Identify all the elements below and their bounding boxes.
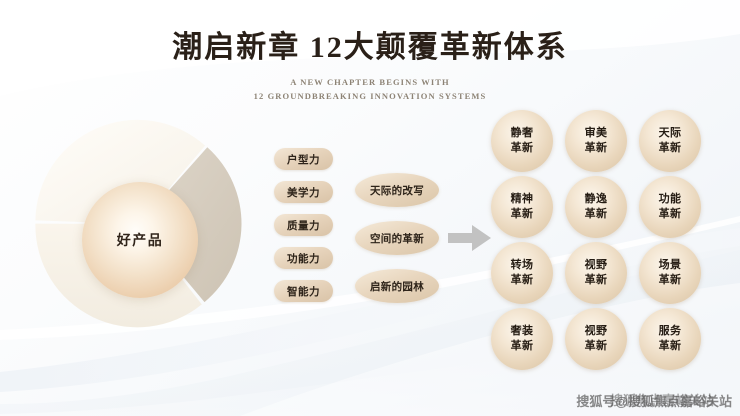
innovation-circle[interactable]: 静奢 革新 [491, 110, 553, 172]
innovation-circle-line1: 静逸 [585, 192, 608, 207]
innovation-circle-line1: 精神 [511, 192, 534, 207]
donut-core-label: 好产品 [117, 230, 164, 250]
innovation-circle-line2: 革新 [659, 339, 682, 354]
capability-pill[interactable]: 功能力 [274, 247, 333, 269]
innovation-circle[interactable]: 转场 革新 [491, 242, 553, 304]
theme-ellipse[interactable]: 启新的园林 [355, 269, 439, 303]
innovation-circle[interactable]: 场景 革新 [639, 242, 701, 304]
capability-pill[interactable]: 质量力 [274, 214, 333, 236]
theme-ellipse[interactable]: 空间的革新 [355, 221, 439, 255]
innovation-circle-line2: 革新 [511, 207, 534, 222]
innovation-circle-line1: 服务 [659, 324, 682, 339]
innovation-circle-line1: 场景 [659, 258, 682, 273]
title-block: 潮启新章 12大颠覆革新体系 A NEW CHAPTER BEGINS WITH… [0, 30, 740, 104]
innovation-circle-line1: 奢装 [511, 324, 534, 339]
innovation-circle[interactable]: 视野 革新 [565, 242, 627, 304]
innovation-circle-line2: 革新 [659, 273, 682, 288]
theme-ellipse-list: 天际的改写 空间的革新 启新的园林 [355, 173, 439, 317]
innovation-circle[interactable]: 服务 革新 [639, 308, 701, 370]
right-arrow-icon [448, 223, 492, 253]
slide-canvas: 潮启新章 12大颠覆革新体系 A NEW CHAPTER BEGINS WITH… [0, 0, 740, 416]
innovation-circle-line2: 革新 [511, 273, 534, 288]
innovation-circle-line2: 革新 [585, 339, 608, 354]
theme-ellipse-label: 天际的改写 [370, 183, 424, 198]
innovation-circle[interactable]: 奢装 革新 [491, 308, 553, 370]
innovation-circle-line1: 天际 [659, 126, 682, 141]
innovation-circle-line2: 革新 [511, 141, 534, 156]
innovation-circle-line2: 革新 [511, 339, 534, 354]
theme-ellipse[interactable]: 天际的改写 [355, 173, 439, 207]
capability-pill-label: 户型力 [287, 152, 320, 167]
capability-pill-label: 美学力 [287, 185, 320, 200]
theme-ellipse-label: 启新的园林 [370, 279, 424, 294]
capability-pill-label: 质量力 [287, 218, 320, 233]
innovation-circle[interactable]: 精神 革新 [491, 176, 553, 238]
innovation-circle[interactable]: 静逸 革新 [565, 176, 627, 238]
capability-pill[interactable]: 户型力 [274, 148, 333, 170]
innovation-circle-line1: 静奢 [511, 126, 534, 141]
innovation-circle-line2: 革新 [585, 141, 608, 156]
innovation-circle-line1: 审美 [585, 126, 608, 141]
innovation-circle[interactable]: 视野 革新 [565, 308, 627, 370]
innovation-circle-line2: 革新 [585, 273, 608, 288]
innovation-circle-line1: 视野 [585, 324, 608, 339]
donut-diagram: 好产品 [33, 118, 245, 330]
capability-pill[interactable]: 智能力 [274, 280, 333, 302]
innovation-circle-line1: 功能 [659, 192, 682, 207]
innovation-circle[interactable]: 天际 革新 [639, 110, 701, 172]
subtitle-line-2: 12 GROUNDBREAKING INNOVATION SYSTEMS [0, 89, 740, 103]
innovation-circle-line2: 革新 [585, 207, 608, 222]
page-title: 潮启新章 12大颠覆革新体系 [0, 30, 740, 66]
innovation-circle-line2: 革新 [659, 207, 682, 222]
innovation-grid: 静奢 革新 审美 革新 天际 革新 精神 革新 静逸 革新 功能 革新 转场 革… [491, 110, 705, 371]
innovation-circle[interactable]: 审美 革新 [565, 110, 627, 172]
capability-pill-list: 户型力 美学力 质量力 功能力 智能力 [274, 148, 334, 313]
donut-core: 好产品 [82, 182, 198, 298]
innovation-circle-line1: 视野 [585, 258, 608, 273]
watermark: 搜狐焦点嘉峪关站 搜狐号@搜狐焦点嘉峪关站 [542, 390, 732, 412]
capability-pill-label: 功能力 [287, 251, 320, 266]
capability-pill-label: 智能力 [287, 284, 320, 299]
innovation-circle[interactable]: 功能 革新 [639, 176, 701, 238]
theme-ellipse-label: 空间的革新 [370, 231, 424, 246]
capability-pill[interactable]: 美学力 [274, 181, 333, 203]
subtitle-line-1: A NEW CHAPTER BEGINS WITH [0, 75, 740, 89]
watermark-text-front: 搜狐号@搜狐焦点嘉峪关站 [576, 391, 732, 410]
innovation-circle-line1: 转场 [511, 258, 534, 273]
innovation-circle-line2: 革新 [659, 141, 682, 156]
